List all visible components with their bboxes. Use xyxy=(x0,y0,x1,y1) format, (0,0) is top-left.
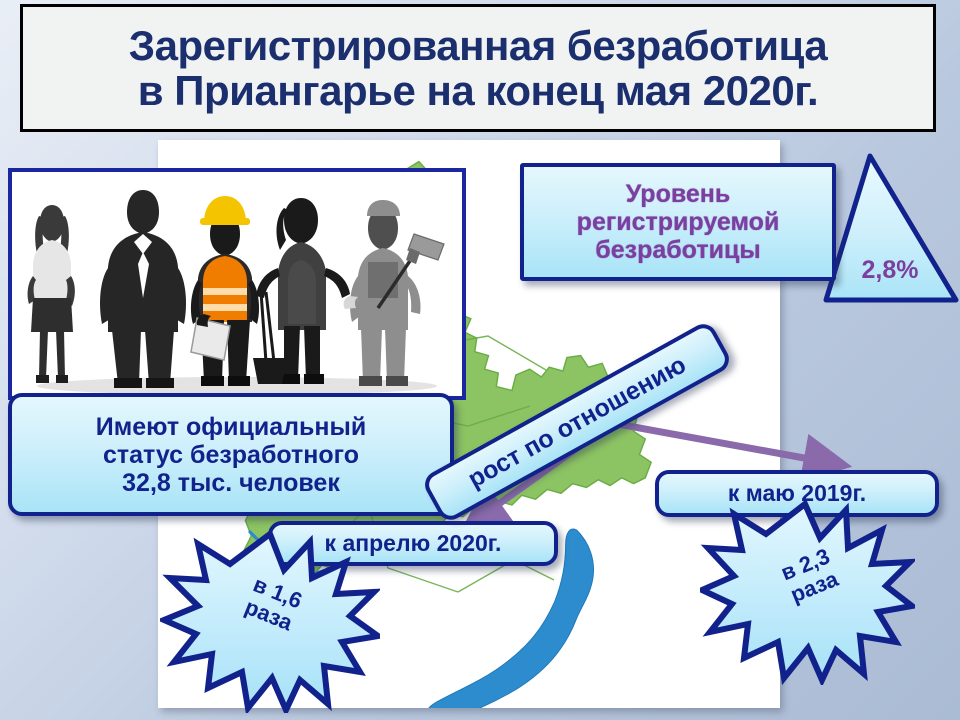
starburst-growth-vs-may: в 2,3 раза xyxy=(700,500,915,685)
page-title-bar: Зарегистрированная безработица в Прианга… xyxy=(20,4,936,132)
starburst-growth-vs-april: в 1,6 раза xyxy=(160,528,380,713)
page-title: Зарегистрированная безработица в Прианга… xyxy=(129,23,827,114)
helmet-brim xyxy=(200,218,250,225)
callout-registered-unemployed[interactable]: Имеют официальный статус безработного 32… xyxy=(8,393,454,516)
infographic-canvas: Зарегистрированная безработица в Прианга… xyxy=(0,0,960,720)
unemployment-rate-triangle: 2,8% xyxy=(820,148,960,308)
unemployment-rate-value: 2,8% xyxy=(820,256,960,285)
callout-unemployment-level[interactable]: Уровень регистрируемой безработицы xyxy=(520,163,836,281)
workers-photo-panel xyxy=(8,168,466,400)
workers-silhouettes-image xyxy=(12,172,462,396)
